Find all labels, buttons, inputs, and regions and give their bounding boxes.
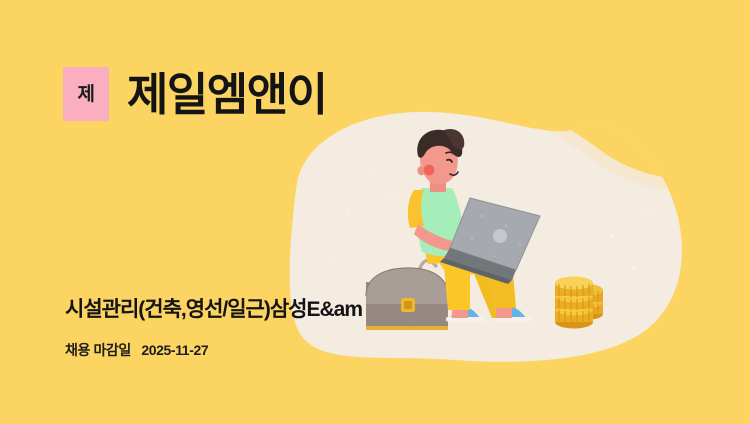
company-name: 제일엠앤이 <box>127 72 327 117</box>
deadline-date: 2025-11-27 <box>141 342 208 358</box>
company-header: 제 제일엠앤이 <box>63 67 327 121</box>
deadline-label: 채용 마감일 <box>65 342 131 358</box>
job-posting-card: 제 제일엠앤이 시설관리(건축,영선/일근)삼성E&am 채용 마감일 2025… <box>0 0 750 424</box>
job-title: 시설관리(건축,영선/일근)삼성E&am <box>65 298 362 322</box>
illustration-canvas <box>0 0 750 424</box>
company-badge: 제 <box>63 67 109 121</box>
deadline-row: 채용 마감일 2025-11-27 <box>65 342 208 359</box>
